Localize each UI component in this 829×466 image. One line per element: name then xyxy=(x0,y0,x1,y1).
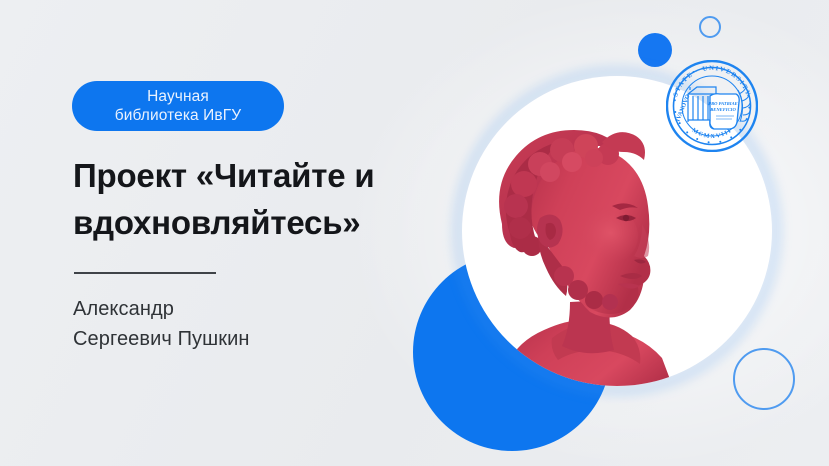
subtitle: Александр Сергеевич Пушкин xyxy=(73,294,403,354)
decorative-outline-circle-icon xyxy=(699,16,721,38)
seal-scroll-line1: PRO PATRIAE xyxy=(708,101,737,106)
seal-scroll-line2: BENEFICIO xyxy=(709,107,736,112)
slide-canvas: STATE · UNIVERSITY MCMXVIII IVANOVO PRO … xyxy=(0,0,829,466)
library-badge-line2: библиотека ИвГУ xyxy=(115,107,241,124)
page-title-line1: Проект «Читайте и xyxy=(73,157,374,194)
subtitle-line2: Сергеевич Пушкин xyxy=(73,324,403,354)
library-badge-text: Научная библиотека ИвГУ xyxy=(115,87,241,125)
seal-left-text: IVANOVO xyxy=(674,93,691,123)
library-badge[interactable]: Научная библиотека ИвГУ xyxy=(72,81,284,131)
page-title-line2: вдохновляйтесь» xyxy=(73,204,360,241)
title-divider xyxy=(74,272,216,274)
library-badge-line1: Научная xyxy=(147,88,209,105)
university-seal-logo-icon: STATE · UNIVERSITY MCMXVIII IVANOVO PRO … xyxy=(666,60,758,152)
page-title: Проект «Читайте и вдохновляйтесь» xyxy=(73,152,473,246)
subtitle-line1: Александр xyxy=(73,294,403,324)
